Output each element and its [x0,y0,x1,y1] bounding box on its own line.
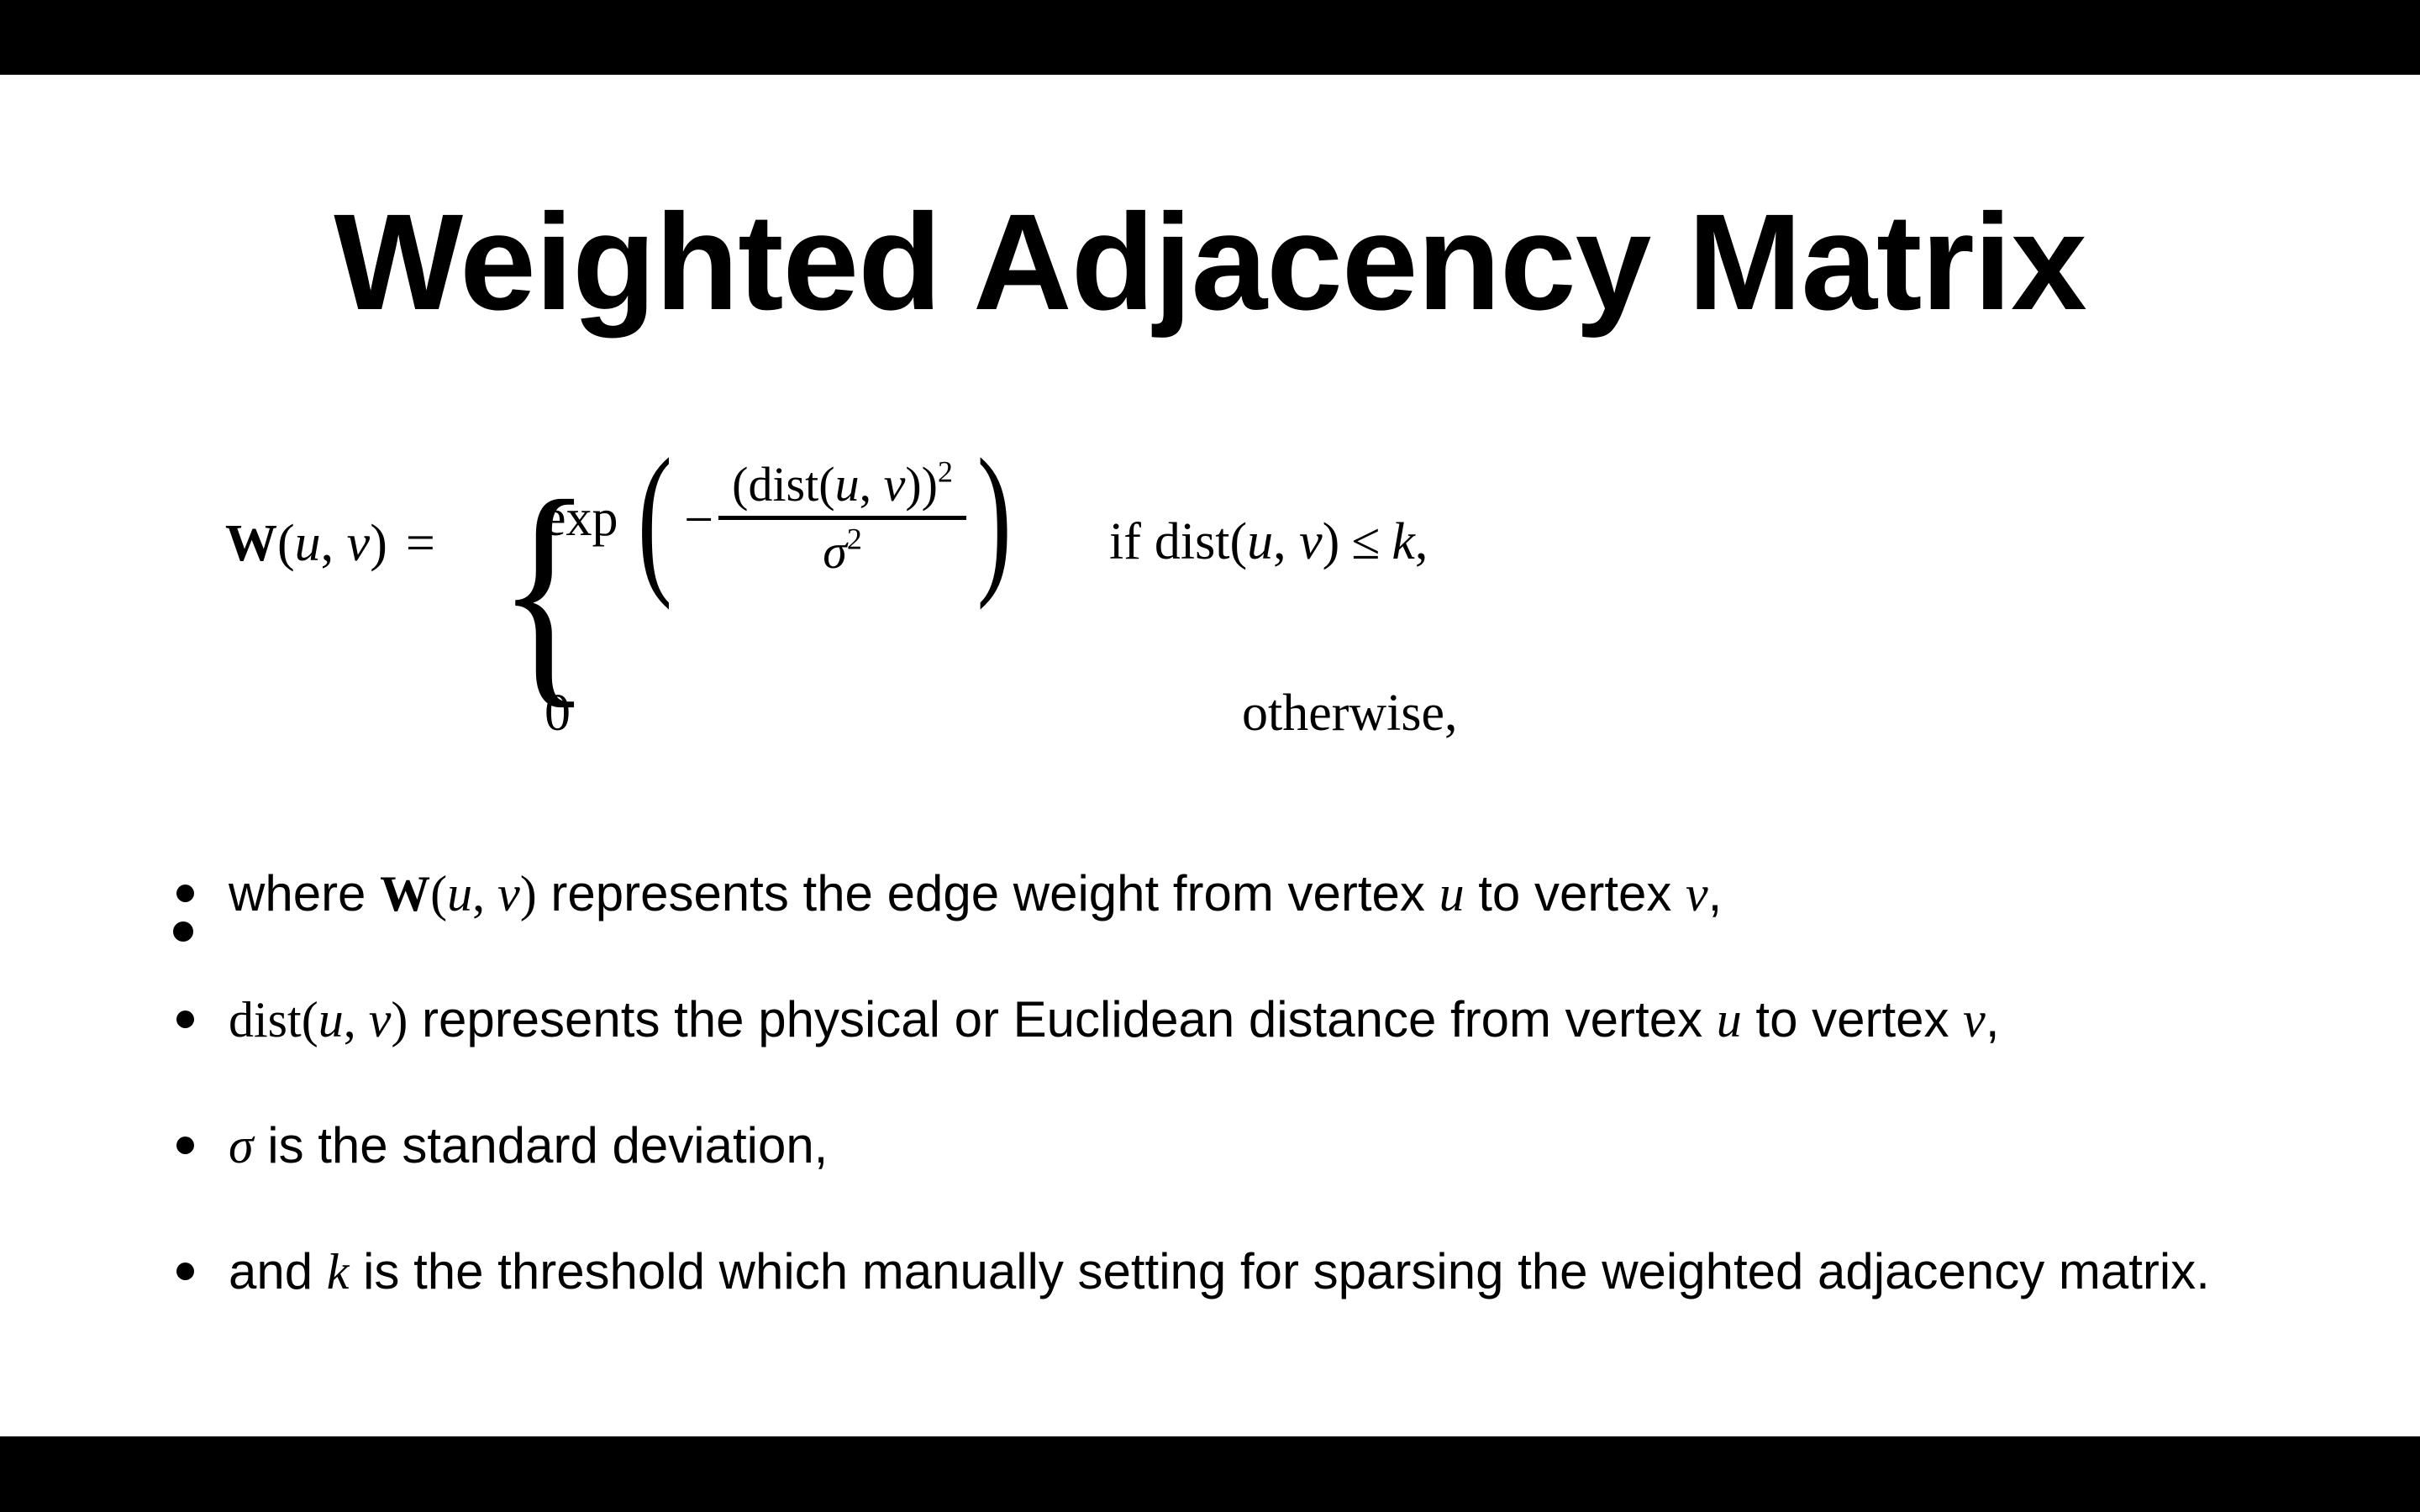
text-run: is the threshold which manually setting … [349,1243,2209,1299]
page-title: Weighted Adjacency Matrix [0,190,2420,333]
condition-trailing-comma: , [1415,513,1428,570]
formula-case-1-condition: ifdist(u, v)≤k, [1109,512,1428,572]
bullet-marker [176,1263,194,1280]
text-run: k [327,1244,350,1299]
dist-paren-open: ( [818,457,834,512]
text-run: ( [430,866,447,921]
bullet-text: and k is the threshold which manually se… [229,1243,2210,1299]
formula-case-2-condition: otherwise, [1242,684,1458,743]
text-run: u [1439,866,1465,921]
condition-dist-label: dist [1155,513,1230,570]
condition-paren-open: ( [1229,513,1247,570]
lhs-arg-v: v [347,515,371,572]
list-item: σ is the standard deviation, [0,1083,2420,1209]
text-run: represents the edge weight from vertex [537,865,1439,921]
numerator-exponent: 2 [938,454,953,488]
numerator-paren-close: ) [922,457,938,512]
sigma-exponent: 2 [847,522,862,555]
text-run: , [1986,991,2000,1047]
text-run: v [1686,866,1708,921]
bullet-marker [176,1137,194,1154]
matrix-symbol-W: W [225,515,277,572]
dist-arg-u: u [835,457,860,512]
bullet-text: dist(u, v) represents the physical or Eu… [229,991,1999,1047]
text-run: W [380,866,430,921]
bullet-list: where W(u, v) represents the edge weight… [0,831,2420,1335]
lhs-paren-close: ) [370,515,387,572]
text-run: is the standard deviation, [254,1117,829,1173]
text-run: and [229,1243,327,1299]
negative-sign: − [684,491,713,550]
bullet-marker [176,1011,194,1028]
condition-arg-v: v [1299,513,1323,570]
condition-arg-u: u [1247,513,1273,570]
text-run: u [318,992,344,1047]
numerator-paren-open: ( [732,457,748,512]
text-run: σ [229,1118,254,1173]
text-run: , [1708,865,1723,921]
dist-paren-close: ) [905,457,921,512]
text-run: dist [229,992,302,1047]
text-run: to vertex [1465,865,1686,921]
text-run: ( [302,992,318,1047]
formula-case-1: exp ( − (dist(u, v))2 σ2 ) [543,453,1023,584]
dist-arg-sep: , [860,457,884,512]
fraction-denominator: σ2 [809,520,876,580]
text-run: to vertex [1742,991,1963,1047]
text-run: v [1963,992,1986,1047]
text-run: , [472,866,497,921]
text-run: v [369,992,392,1047]
text-run: ) [391,992,408,1047]
fraction-numerator: (dist(u, v))2 [718,458,966,516]
slide-frame: Weighted Adjacency Matrix W(u, v)= { exp… [0,0,2420,1512]
formula-left-hand-side: W(u, v)= [225,513,435,574]
bullet-text: σ is the standard deviation, [229,1117,828,1173]
text-run: u [1717,992,1742,1047]
bullet-text: where W(u, v) represents the edge weight… [229,865,1722,921]
text-run: ) [520,866,537,921]
list-item: and k is the threshold which manually se… [0,1209,2420,1335]
text-run: v [497,866,520,921]
sigma-symbol: σ [823,524,847,579]
condition-arg-sep: , [1273,513,1299,570]
bullet-marker [176,885,194,902]
list-item: dist(u, v) represents the physical or Eu… [0,957,2420,1083]
exp-function-label: exp [543,489,618,549]
lhs-arg-u: u [295,515,321,572]
text-run: u [447,866,472,921]
lhs-equals-sign: = [406,515,435,572]
condition-if-keyword: if [1109,513,1141,570]
condition-paren-close: ) [1323,513,1340,570]
slide-canvas: Weighted Adjacency Matrix W(u, v)= { exp… [0,75,2420,1436]
letterbox-bar-bottom [0,1436,2420,1512]
condition-threshold-k: k [1391,513,1415,570]
text-run: represents the physical or Euclidean dis… [408,991,1716,1047]
dist-arg-v: v [884,457,906,512]
formula-case-2-value: 0 [544,684,571,743]
exp-paren-open: ( [637,453,671,584]
exp-paren-close: ) [977,453,1012,584]
lhs-paren-open: ( [277,515,295,572]
letterbox-bar-top [0,0,2420,75]
formula-block: W(u, v)= { exp ( − (dist(u, v))2 σ2 ) [0,352,2420,638]
gaussian-fraction: (dist(u, v))2 σ2 [718,458,966,580]
lhs-arg-sep: , [321,515,347,572]
dist-function-label: dist [748,457,818,512]
condition-relation-symbol: ≤ [1351,513,1380,570]
text-run: where [229,865,380,921]
text-run: , [344,992,369,1047]
list-item: where W(u, v) represents the edge weight… [0,831,2420,957]
